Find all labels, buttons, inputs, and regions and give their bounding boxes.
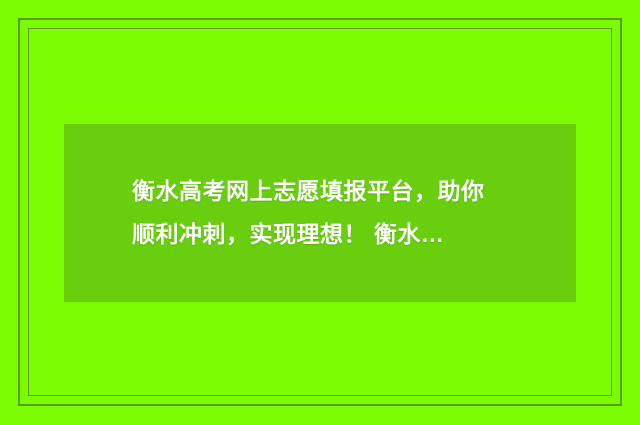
banner-root: 衡水高考网上志愿填报平台，助你 顺利冲刺，实现理想！ 衡水… — [0, 0, 640, 425]
headline-text: 衡水高考网上志愿填报平台，助你 顺利冲刺，实现理想！ 衡水… — [132, 170, 485, 256]
headline-line-1: 衡水高考网上志愿填报平台，助你 — [132, 170, 485, 213]
headline-panel: 衡水高考网上志愿填报平台，助你 顺利冲刺，实现理想！ 衡水… — [64, 124, 576, 302]
headline-line-2: 顺利冲刺，实现理想！ 衡水… — [132, 213, 485, 256]
